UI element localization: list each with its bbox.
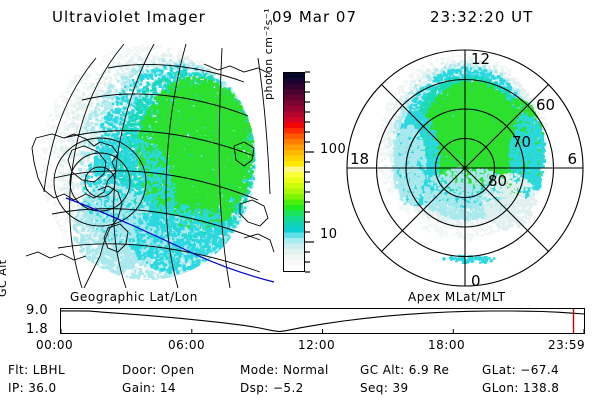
colorbar-axis-label: photon cm⁻²s⁻¹ <box>262 0 275 100</box>
status-flt: Flt: LBHL <box>8 363 65 377</box>
timeline-xtick-0: 00:00 <box>36 338 73 352</box>
status-gain: Gain: 14 <box>122 381 176 395</box>
mlt-label-12: 12 <box>471 50 490 68</box>
aurora-oval-field <box>376 54 550 264</box>
mlat-ring-label-80: 80 <box>488 172 507 190</box>
status-glat: GLat: −67.4 <box>482 363 559 377</box>
mlat-ring-label-60: 60 <box>536 96 555 114</box>
orbit-altitude-timeline[interactable] <box>60 308 585 334</box>
timeline-xtick-1: 06:00 <box>168 338 205 352</box>
status-glon: GLon: 138.8 <box>482 381 559 395</box>
observation-date: 09 Mar 07 <box>272 8 357 26</box>
left-panel-caption: Geographic Lat/Lon <box>70 290 198 304</box>
mlt-label-18: 18 <box>350 150 369 168</box>
page-title: Ultraviolet Imager <box>52 8 206 26</box>
timeline-xtick-4: 23:59 <box>548 338 585 352</box>
orbit-altitude-curve <box>61 311 584 332</box>
aurora-emission-field <box>34 44 261 285</box>
timeline-xtick-3: 18:00 <box>428 338 465 352</box>
uvi-display-root: Ultraviolet Imager 09 Mar 07 23:32:20 UT <box>0 0 600 400</box>
mlt-label-0: 0 <box>471 272 481 290</box>
colorbar-ticks <box>305 70 317 274</box>
mlt-label-6: 6 <box>567 150 577 168</box>
apex-polar-panel[interactable]: 12 6 0 18 60 70 80 <box>340 42 600 290</box>
polar-grid <box>347 50 583 286</box>
status-dsp: Dsp: −5.2 <box>240 381 304 395</box>
observation-time: 23:32:20 UT <box>430 8 533 26</box>
right-panel-caption: Apex MLat/MLT <box>408 290 506 304</box>
status-door: Door: Open <box>122 363 195 377</box>
timeline-xtick-2: 12:00 <box>298 338 335 352</box>
status-gcalt: GC Alt: 6.9 Re <box>360 363 449 377</box>
colorbar-container <box>283 72 305 272</box>
status-ip: IP: 36.0 <box>8 381 57 395</box>
colorbar-tick-10: 10 <box>320 227 338 242</box>
timeline-ytick-bottom: 1.8 <box>26 322 48 337</box>
colorbar-gradient <box>283 72 305 272</box>
timeline-ytick-top: 9.0 <box>26 303 48 318</box>
status-seq: Seq: 39 <box>360 381 409 395</box>
timeline-y-axis-label: GC Alt <box>0 247 9 297</box>
geographic-image-panel[interactable] <box>8 42 276 290</box>
status-mode: Mode: Normal <box>240 363 329 377</box>
mlat-ring-label-70: 70 <box>512 133 531 151</box>
